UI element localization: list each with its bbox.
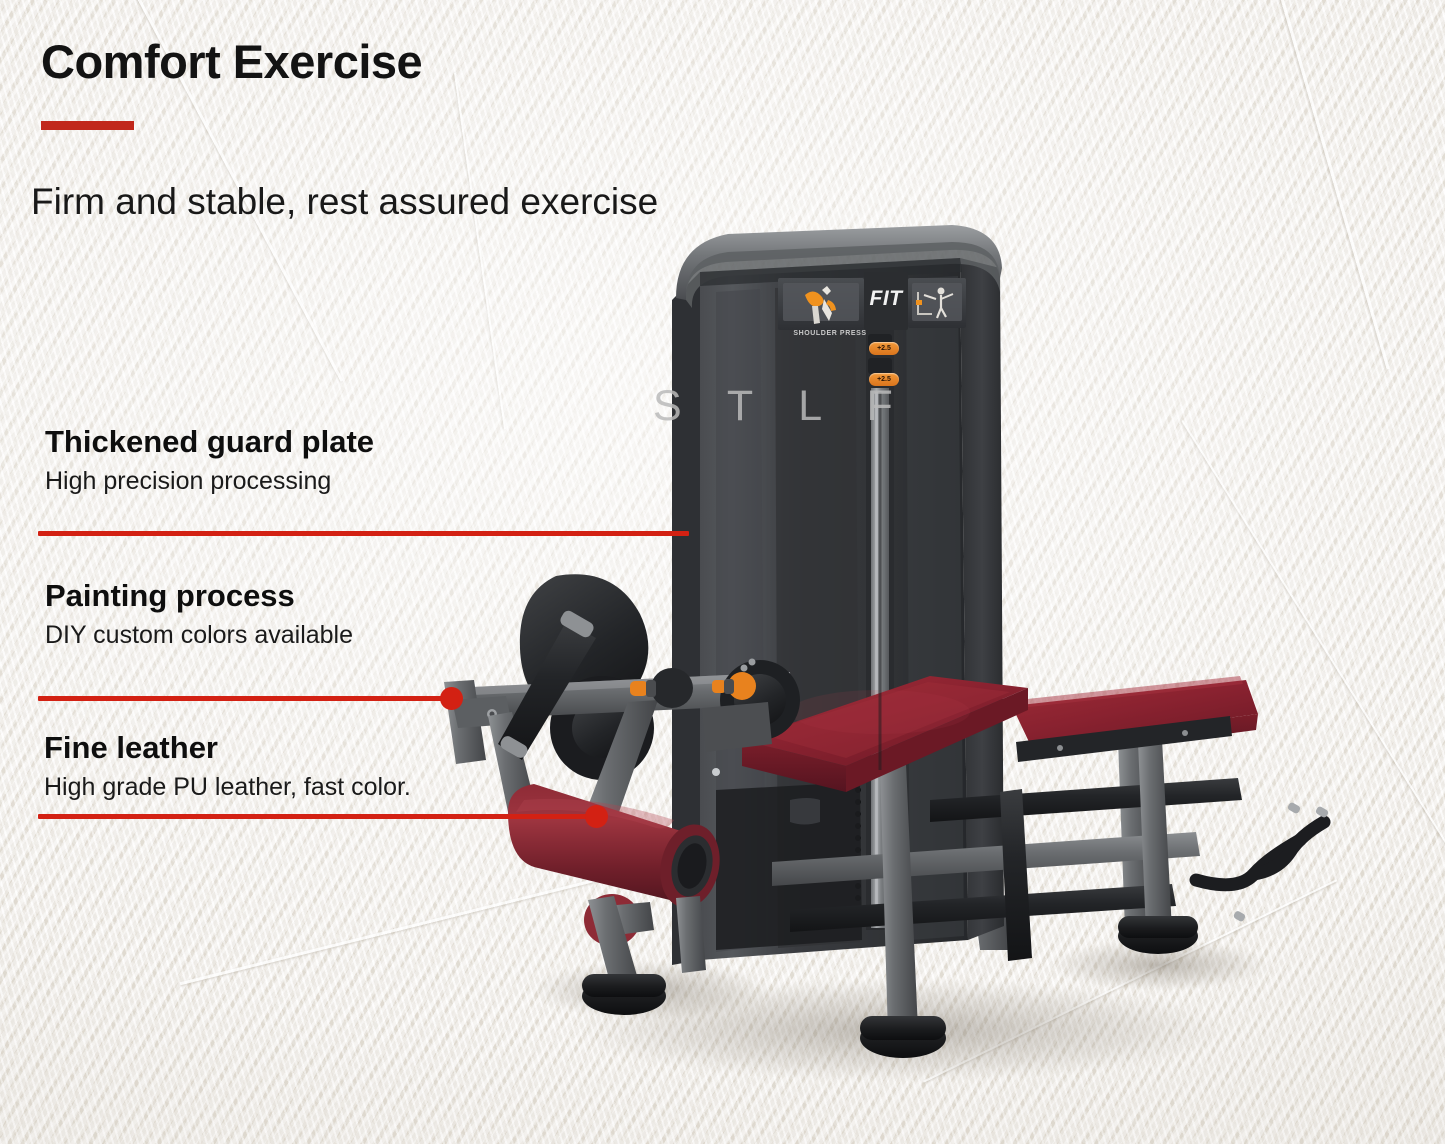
feature-subtitle: DIY custom colors available <box>45 620 353 650</box>
feature-callout-3: Fine leather High grade PU leather, fast… <box>44 730 411 802</box>
console-exercise-label: SHOULDER PRESS <box>787 330 873 337</box>
feature-title: Thickened guard plate <box>45 424 374 460</box>
poster-canvas: S T L F FIT SHOULDER PRESS +2.5 +2.5 Com… <box>0 0 1445 1144</box>
weight-increment-tag: +2.5 <box>869 342 899 355</box>
feature-leader-dot-3 <box>585 805 608 828</box>
feature-leader-dot-2 <box>440 687 463 710</box>
feature-callout-1: Thickened guard plate High precision pro… <box>45 424 374 496</box>
feature-leader-line-1 <box>38 531 689 536</box>
feature-leader-line-2 <box>38 696 454 701</box>
feature-callout-2: Painting process DIY custom colors avail… <box>45 578 353 650</box>
title-accent-bar <box>41 121 134 130</box>
feature-title: Fine leather <box>44 730 411 766</box>
page-subtitle: Firm and stable, rest assured exercise <box>31 181 658 223</box>
feature-subtitle: High precision processing <box>45 466 374 496</box>
page-title: Comfort Exercise <box>41 34 422 89</box>
console-brand-label: FIT <box>866 287 906 311</box>
feature-title: Painting process <box>45 578 353 614</box>
weight-increment-tag: +2.5 <box>869 373 899 386</box>
feature-subtitle: High grade PU leather, fast color. <box>44 772 411 802</box>
feature-leader-line-3 <box>38 814 600 819</box>
product-illustration <box>0 0 1445 1144</box>
